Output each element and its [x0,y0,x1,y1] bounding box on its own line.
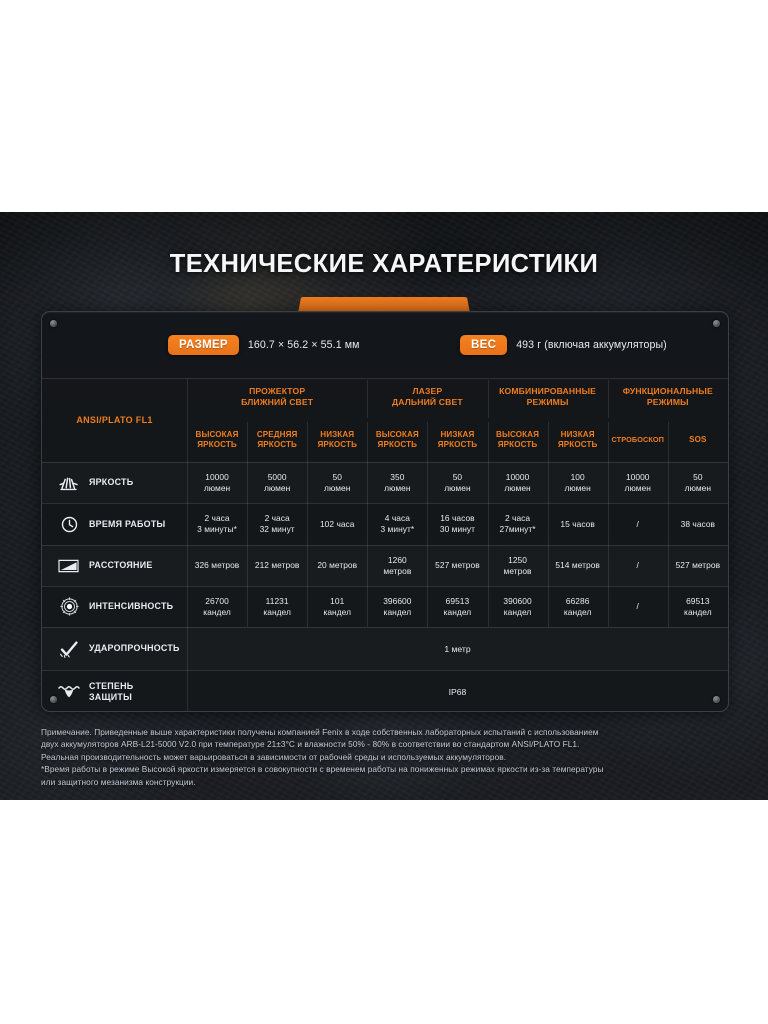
intensity-target-icon [54,597,84,616]
waterproof-icon [54,685,84,698]
cell-value: 527 метров [676,560,721,571]
table-column-header: НИЗКАЯЯРКОСТЬ [427,420,487,460]
table-cell: 2 часа27минут* [488,503,548,545]
table-row-divider [42,627,728,628]
cell-value: / [637,560,639,571]
cell-unit: люмен [625,483,651,494]
cell-unit: люмен [204,483,230,494]
column-header-line1: НИЗКАЯ [561,430,595,439]
cell-unit: 30 минут [440,524,475,535]
footnote-line-4: *Время работы в режиме Высокой яркости и… [41,763,731,775]
table-cell: 50люмен [427,462,487,503]
table-row: СТЕПЕНЬЗАЩИТЫIP68 [42,670,728,712]
column-header-line1: СТРОБОСКОП [611,435,664,445]
cell-value: 11231 [266,596,289,607]
group-header-line1: ЛАЗЕР [412,386,442,396]
table-cell: 1260метров [367,545,427,586]
group-header-line1: ПРОЖЕКТОР [249,386,305,396]
spec-panel: РАЗМЕР 160.7 × 56.2 × 55.1 мм ВЕС 493 г … [41,311,729,712]
table-cell: 326 метров [187,545,247,586]
size-badge: РАЗМЕР [168,335,239,355]
cell-value: 350 [390,472,404,483]
cell-value: 1 метр [444,644,470,654]
table-group-header: ПРОЖЕКТОРБЛИЖНИЙ СВЕТ [187,380,367,414]
cell-value: 2 часа [505,513,530,524]
table-cell: 396600кандел [367,586,427,627]
table-cell: 2 часа3 минуты* [187,503,247,545]
group-header-line2: ДАЛЬНИЙ СВЕТ [392,397,463,407]
table-cell: 20 метров [307,545,367,586]
table-column-header: SOS [668,420,728,460]
table-cell: 350люмен [367,462,427,503]
table-column-header: ВЫСОКАЯЯРКОСТЬ [187,420,247,460]
table-column-divider [307,422,308,627]
cell-value: 69513 [446,596,470,607]
table-group-divider [608,380,609,418]
table-row: ЯРКОСТЬ10000люмен5000люмен50люмен350люме… [42,462,728,503]
table-cell: 4 часа3 минут* [367,503,427,545]
table-cell: 100люмен [548,462,608,503]
weight-spec: ВЕС 493 г (включая аккумуляторы) [460,312,667,378]
cell-value: 396600 [383,596,411,607]
cell-value: / [637,519,639,530]
footnote-line-3: Реальная производительность может варьир… [41,751,731,763]
table-cell: / [608,586,668,627]
beam-distance-icon [54,559,84,573]
cell-value: 15 часов [560,519,594,530]
table-cell: 102 часа [307,503,367,545]
table-cell: / [608,503,668,545]
cell-unit: люмен [685,483,711,494]
brightness-icon [54,475,84,491]
table-cell: 10000люмен [608,462,668,503]
cell-value: 390600 [503,596,531,607]
column-header-line2: ЯРКОСТЬ [438,440,478,449]
cell-value: 38 часов [681,519,715,530]
row-label: ИНТЕНСИВНОСТЬ [42,586,187,627]
row-label: ЯРКОСТЬ [42,462,187,503]
cell-value: 50 [693,472,702,483]
table-row-divider [42,586,728,587]
cell-unit: метров [383,566,411,577]
spec-strip: РАЗМЕР 160.7 × 56.2 × 55.1 мм ВЕС 493 г … [42,312,728,378]
footnote: Примечание. Приведенные выше характерист… [41,726,731,788]
footnote-line-2: двух аккумуляторов ARB-L21-5000 V2.0 при… [41,738,731,750]
group-header-line2: БЛИЖНИЙ СВЕТ [241,397,313,407]
table-cell: 16 часов30 минут [427,503,487,545]
table-cell: 527 метров [427,545,487,586]
row-label-text: ВРЕМЯ РАБОТЫ [89,519,165,530]
table-column-divider [367,422,368,627]
cell-value: 326 метров [195,560,240,571]
table-cell: 212 метров [247,545,307,586]
size-value: 160.7 × 56.2 × 55.1 мм [248,339,360,351]
cell-value: 50 [453,472,462,483]
row-label-text: РАССТОЯНИЕ [89,560,153,571]
table-column-header: СРЕДНЯЯЯРКОСТЬ [247,420,307,460]
table-column-header: СТРОБОСКОП [608,420,668,460]
table-cell: 10000люмен [488,462,548,503]
cell-value: 66286 [566,596,590,607]
table-cell-span: IP68 [187,670,728,712]
table-row-divider [42,545,728,546]
table-column-divider [187,378,188,712]
table-cell: 1250метров [488,545,548,586]
cell-unit: кандел [684,607,712,618]
table-row-divider [42,378,728,379]
cell-value: 102 часа [320,519,355,530]
row-label-text: ИНТЕНСИВНОСТЬ [89,601,173,612]
cell-unit: кандел [384,607,412,618]
table-column-divider [247,422,248,627]
column-header-line1: СРЕДНЯЯ [257,430,298,439]
cell-unit: 3 минуты* [197,524,237,535]
table-column-divider [488,422,489,627]
cell-value: 69513 [686,596,710,607]
cell-value: 10000 [205,472,229,483]
column-header-line2: ЯРКОСТЬ [197,440,237,449]
table-cell: 50люмен [307,462,367,503]
table-column-header: НИЗКАЯЯРКОСТЬ [548,420,608,460]
table-cell: 69513кандел [427,586,487,627]
cell-value: 101 [330,596,344,607]
table-row: ВРЕМЯ РАБОТЫ2 часа3 минуты*2 часа32 мину… [42,503,728,545]
row-label: СТЕПЕНЬЗАЩИТЫ [42,670,187,712]
table-cell: 527 метров [668,545,728,586]
ansi-plato-label: ANSI/PLATO FL1 [42,378,187,462]
table-row: УДАРОПРОЧНОСТЬ1 метр [42,627,728,670]
column-header-line1: НИЗКАЯ [320,430,354,439]
footnote-line-5: или защитного мезанизма конструкции. [41,776,731,788]
table-row: ИНТЕНСИВНОСТЬ26700кандел11231кандел101ка… [42,586,728,627]
row-label: РАССТОЯНИЕ [42,545,187,586]
table-cell: 66286кандел [548,586,608,627]
cell-unit: люмен [324,483,350,494]
cell-unit: 3 минут* [380,524,414,535]
cell-value: 527 метров [435,560,480,571]
row-label-text-wrap: СТЕПЕНЬЗАЩИТЫ [89,681,133,702]
cell-value: 1260 [388,555,407,566]
table-column-divider [668,422,669,627]
cell-value: 1250 [508,555,527,566]
table-row-divider [42,462,728,463]
cell-unit: люмен [264,483,290,494]
table-column-header: ВЫСОКАЯЯРКОСТЬ [367,420,427,460]
spec-table: ANSI/PLATO FL1 ПРОЖЕКТОРБЛИЖНИЙ СВЕТЛАЗЕ… [42,378,728,710]
row-label: ВРЕМЯ РАБОТЫ [42,503,187,545]
cell-value: 16 часов [440,513,474,524]
cell-value: 100 [571,472,585,483]
table-cell: 26700кандел [187,586,247,627]
column-header-line2: ЯРКОСТЬ [498,440,538,449]
table-row-divider [42,503,728,504]
cell-value: 5000 [268,472,287,483]
table-cell: 10000люмен [187,462,247,503]
page-title: ТЕХНИЧЕСКИЕ ХАРАТЕРИСТИКИ [0,250,768,279]
cell-unit: люмен [444,483,470,494]
table-cell: 50люмен [668,462,728,503]
row-label-text: ЯРКОСТЬ [89,477,133,488]
table-group-header: ФУНКЦИОНАЛЬНЫЕРЕЖИМЫ [608,380,728,414]
table-cell: 5000люмен [247,462,307,503]
cell-unit: кандел [504,607,532,618]
cell-unit: 27минут* [500,524,536,535]
cell-unit: 32 минут [260,524,295,535]
table-group-divider [488,380,489,418]
column-header-line2: ЯРКОСТЬ [257,440,297,449]
cell-unit: кандел [323,607,351,618]
row-label-text: УДАРОПРОЧНОСТЬ [89,643,180,653]
cell-value: 26700 [205,596,229,607]
clock-icon [54,516,84,533]
table-column-divider [608,422,609,627]
cell-unit: кандел [203,607,231,618]
cell-value: 2 часа [265,513,290,524]
row-label-text-wrap: УДАРОПРОЧНОСТЬ [89,643,180,654]
impact-resistance-icon [54,640,84,658]
row-label: УДАРОПРОЧНОСТЬ [42,627,187,670]
cell-unit: кандел [263,607,291,618]
cell-value: 514 метров [555,560,600,571]
table-cell: / [608,545,668,586]
table-row: РАССТОЯНИЕ326 метров212 метров20 метров1… [42,545,728,586]
table-group-header: КОМБИНИРОВАННЫЕРЕЖИМЫ [488,380,608,414]
cell-value: 212 метров [255,560,300,571]
cell-unit: люмен [384,483,410,494]
column-header-line2: ЯРКОСТЬ [317,440,357,449]
cell-unit: люмен [564,483,590,494]
group-header-line1: ФУНКЦИОНАЛЬНЫЕ [623,386,713,396]
group-header-line1: КОМБИНИРОВАННЫЕ [499,386,596,396]
column-header-line1: SOS [689,435,706,445]
group-header-line2: РЕЖИМЫ [527,397,569,407]
column-header-line1: НИЗКАЯ [440,430,474,439]
cell-value: 50 [333,472,342,483]
footnote-line-1: Примечание. Приведенные выше характерист… [41,726,731,738]
table-group-divider [367,380,368,418]
table-cell: 390600кандел [488,586,548,627]
table-cell: 11231кандел [247,586,307,627]
weight-value: 493 г (включая аккумуляторы) [516,339,667,351]
cell-unit: кандел [564,607,592,618]
table-cell: 38 часов [668,503,728,545]
cell-value: 20 метров [317,560,357,571]
table-cell: 15 часов [548,503,608,545]
table-column-header: ВЫСОКАЯЯРКОСТЬ [488,420,548,460]
table-cell-span: 1 метр [187,627,728,670]
column-header-line1: ВЫСОКАЯ [496,430,539,439]
table-cell: 101кандел [307,586,367,627]
group-header-line2: РЕЖИМЫ [647,397,689,407]
column-header-line2: ЯРКОСТЬ [558,440,598,449]
table-row-divider [42,670,728,671]
table-column-header: НИЗКАЯЯРКОСТЬ [307,420,367,460]
size-spec: РАЗМЕР 160.7 × 56.2 × 55.1 мм [168,312,360,378]
cell-unit: кандел [444,607,472,618]
table-cell: 69513кандел [668,586,728,627]
cell-value: / [637,601,639,612]
weight-badge: ВЕС [460,335,507,355]
column-header-line1: ВЫСОКАЯ [196,430,239,439]
cell-value: 2 часа [204,513,229,524]
table-column-divider [548,422,549,627]
table-column-divider [427,422,428,627]
cell-value: 4 часа [385,513,410,524]
table-group-header: ЛАЗЕРДАЛЬНИЙ СВЕТ [367,380,487,414]
table-cell: 514 метров [548,545,608,586]
cell-unit: люмен [504,483,530,494]
table-cell: 2 часа32 минут [247,503,307,545]
row-label-line2: ЗАЩИТЫ [89,692,132,702]
cell-value: 10000 [626,472,650,483]
row-label-line1: СТЕПЕНЬ [89,681,133,691]
cell-value: 10000 [506,472,530,483]
column-header-line1: ВЫСОКАЯ [376,430,419,439]
cell-unit: метров [504,566,532,577]
column-header-line2: ЯРКОСТЬ [378,440,418,449]
cell-value: IP68 [449,687,467,697]
